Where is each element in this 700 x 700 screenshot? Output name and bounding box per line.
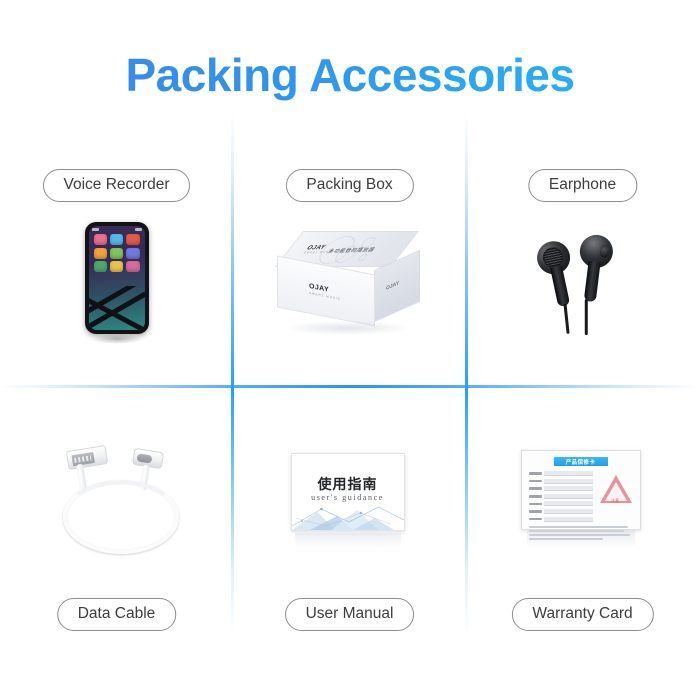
- cable-loop: [63, 480, 179, 554]
- warranty-field-list: [529, 471, 593, 524]
- cell-voice-recorder: Voice Recorder: [0, 113, 233, 385]
- manual-title-cn: 使用指南: [292, 474, 404, 494]
- cell-data-cable: Data Cable: [0, 388, 233, 660]
- cell-user-manual: 使用指南 user's guidance: [233, 388, 466, 660]
- art-data-cable: [0, 436, 233, 556]
- warranty-field-row: [529, 471, 593, 476]
- cell-packing-box: Packing Box OJAY SMART MUSIC 多功能数码播放器 OJ…: [233, 113, 466, 385]
- warranty-field-row: [529, 517, 593, 522]
- recorder-status-bar: [89, 226, 145, 233]
- box-reflection: [285, 321, 411, 335]
- art-user-manual: 使用指南 user's guidance: [233, 446, 466, 556]
- cell-earphone: Earphone: [466, 113, 699, 385]
- label-packing-box: Packing Box: [285, 169, 413, 202]
- label-data-cable: Data Cable: [57, 598, 177, 631]
- warranty-field-row: [529, 501, 593, 506]
- user-manual-cover: 使用指南 user's guidance: [291, 453, 405, 531]
- cable-neck-a: [76, 464, 87, 491]
- label-earphone: Earphone: [528, 169, 637, 202]
- recorder-app-grid: [89, 233, 145, 272]
- warranty-reflection: [527, 530, 635, 548]
- manual-reflection: [295, 533, 401, 549]
- label-user-manual: User Manual: [285, 598, 415, 631]
- art-voice-recorder: [0, 218, 233, 348]
- label-warranty-card: Warranty Card: [511, 598, 653, 631]
- warranty-header-banner: 产品保修卡: [554, 457, 608, 466]
- page-title: Packing Accessories: [0, 48, 700, 102]
- art-warranty-card: 产品保修卡: [466, 444, 699, 556]
- warranty-card-face: 产品保修卡: [521, 450, 641, 530]
- art-earphone: [466, 221, 699, 346]
- warranty-field-row: [529, 486, 593, 491]
- warning-triangle-icon: 注意: [598, 475, 633, 507]
- voice-recorder-device: [85, 222, 149, 334]
- warranty-field-row: [529, 479, 593, 484]
- usb-a-connector: [65, 445, 107, 470]
- warranty-field-row: [529, 509, 593, 514]
- manual-polygon-graphic: [292, 500, 404, 530]
- recorder-body-stripes: [89, 286, 145, 330]
- warranty-field-row: [529, 494, 593, 499]
- art-packing-box: OJAY SMART MUSIC 多功能数码播放器 OJAY SMART MUS…: [233, 223, 466, 343]
- packing-accessories-infographic: Packing Accessories Voice Recorder: [0, 0, 700, 700]
- recorder-reflection: [92, 334, 142, 344]
- label-voice-recorder: Voice Recorder: [43, 169, 191, 202]
- earbud-notch: [599, 244, 610, 258]
- cell-warranty-card: 产品保修卡: [466, 388, 699, 660]
